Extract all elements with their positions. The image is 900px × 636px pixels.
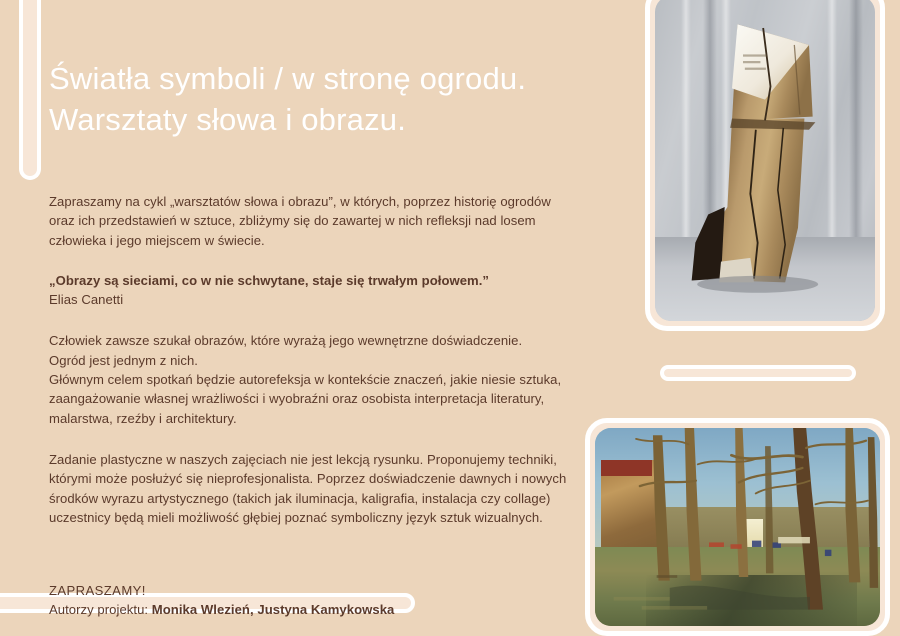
poster-body: Zapraszamy na cykl „warsztatów słowa i o… [49,140,594,620]
sculpture-artwork [655,0,875,321]
body-paragraph-3: Zadanie plastyczne w naszych zajęciach n… [49,428,594,527]
authors-label: Autorzy projektu: [49,602,152,617]
decorative-mid-right-capsule-stroke [660,365,856,381]
quote-text: „Obrazy są sieciami, co w nie schwytane,… [49,271,594,290]
painting-image-frame [585,418,890,636]
painting-trees-shape [595,428,880,626]
authors-names: Monika Wlezień, Justyna Kamykowska [152,602,395,617]
invite-text: ZAPRASZAMY! [49,581,594,600]
poster-footer: ZAPRASZAMY! Autorzy projektu: Monika Wle… [49,527,594,620]
painting-image [595,428,880,626]
poster-canvas: Światła symboli / w stronę ogrodu. Warsz… [0,0,900,636]
sculpture-photo [655,0,875,321]
intro-paragraph: Zapraszamy na cykl „warsztatów słowa i o… [49,140,594,250]
quote-author: Elias Canetti [49,290,594,309]
page-title: Światła symboli / w stronę ogrodu. Warsz… [49,0,594,140]
sculpture-form-shape [655,0,875,321]
body-paragraph-2: Człowiek zawsze szukał obrazów, które wy… [49,309,594,427]
quote-block: „Obrazy są sieciami, co w nie schwytane,… [49,250,594,310]
decorative-left-vertical-stroke [19,0,41,180]
authors-line: Autorzy projektu: Monika Wlezień, Justyn… [49,600,594,619]
poster-text-column: Światła symboli / w stronę ogrodu. Warsz… [49,0,594,620]
sculpture-photo-frame [645,0,885,331]
painting-artwork [595,428,880,626]
